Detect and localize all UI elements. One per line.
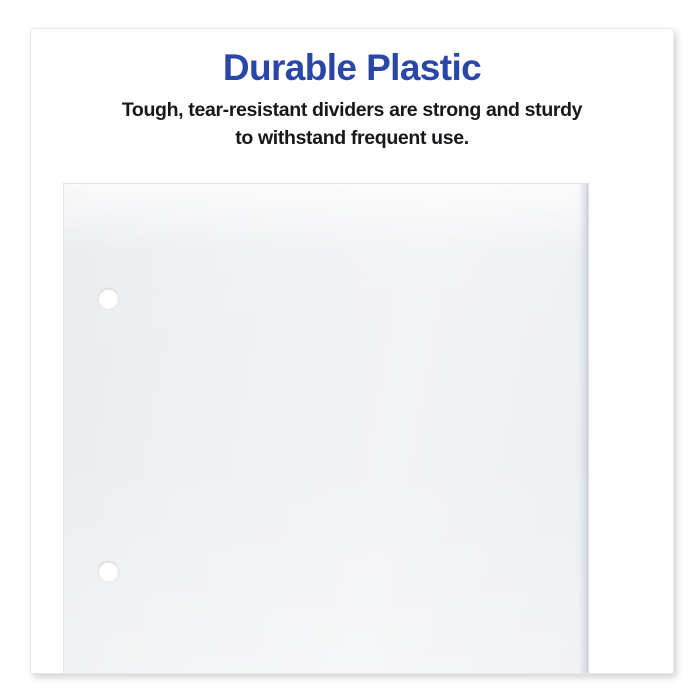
subtitle-line-1: Tough, tear-resistant dividers are stron… (31, 99, 673, 122)
binder-hole-top (98, 288, 119, 309)
sheet-sheen-overlay (64, 184, 588, 674)
sheet-right-edge (578, 184, 588, 674)
product-image-card: Durable Plastic Tough, tear-resistant di… (30, 28, 674, 674)
binder-hole-bottom (98, 561, 119, 582)
page-title: Durable Plastic (31, 47, 673, 89)
divider-sheet (63, 183, 589, 674)
subtitle-line-2: to withstand frequent use. (31, 127, 673, 150)
